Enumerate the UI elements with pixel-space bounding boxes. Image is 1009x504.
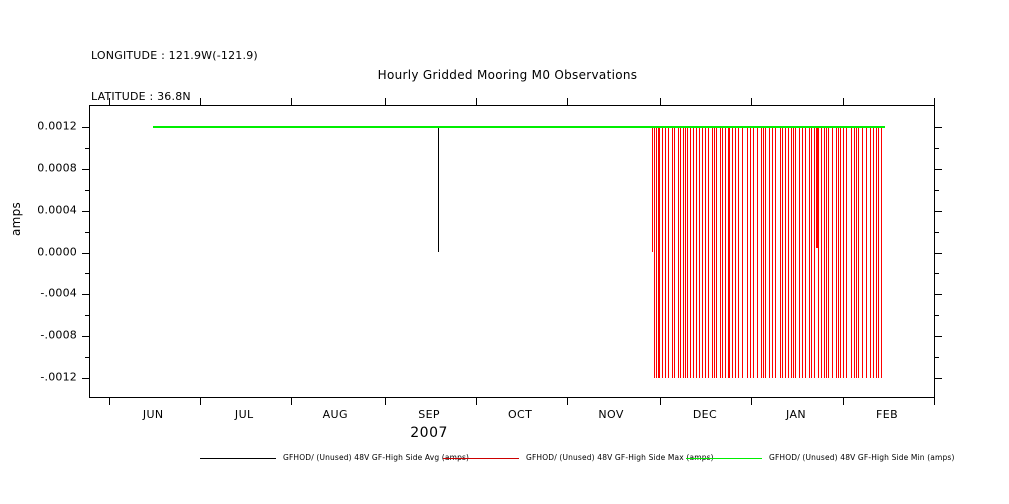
legend-color-swatch (686, 458, 762, 459)
y-tick-label: -.0004 (40, 287, 77, 300)
series-spike-max (750, 127, 751, 378)
y-minor-tick-mark (934, 148, 939, 149)
x-tick-mark (291, 98, 292, 106)
series-spike-max (843, 127, 844, 378)
x-tick-mark (200, 397, 201, 405)
y-tick-mark (934, 169, 942, 170)
series-spike-max (747, 127, 748, 378)
y-tick-label: -.0008 (40, 329, 77, 342)
series-spike-max (821, 127, 822, 378)
y-minor-tick-mark (85, 148, 90, 149)
y-tick-mark (82, 169, 90, 170)
legend-entry[interactable]: GFHOD/ (Unused) 48V GF-High Side Min (am… (686, 450, 955, 466)
series-spike-max (799, 127, 800, 378)
series-spike-max (858, 127, 859, 378)
series-spike-max (722, 127, 723, 378)
series-spike-max (702, 127, 703, 378)
series-spike-max (811, 127, 812, 378)
series-spike-max (805, 127, 806, 378)
y-minor-tick-mark (85, 357, 90, 358)
y-tick-mark (934, 294, 942, 295)
series-spike-max (818, 127, 819, 378)
x-tick-mark (476, 397, 477, 405)
chart-title: Hourly Gridded Mooring M0 Observations (3, 68, 1009, 82)
y-tick-mark (82, 378, 90, 379)
x-tick-label: DEC (693, 408, 717, 421)
series-spike-max (840, 127, 841, 378)
series-spike-max (668, 127, 669, 378)
y-tick-mark (934, 253, 942, 254)
x-axis-tick-labels: JUNJULAUGSEPOCTNOVDECJANFEB (89, 408, 935, 424)
series-spike-max (687, 127, 688, 378)
series-spike-max (862, 127, 863, 378)
y-minor-tick-mark (85, 232, 90, 233)
x-tick-label: JUN (143, 408, 164, 421)
legend-entry[interactable]: GFHOD/ (Unused) 48V GF-High Side Avg (am… (200, 450, 469, 466)
x-tick-mark (567, 397, 568, 405)
legend-color-swatch (443, 458, 519, 459)
series-spike-max (658, 127, 659, 378)
y-tick-label: 0.0012 (37, 119, 77, 132)
series-spike-max (856, 127, 857, 378)
series-spike-max (832, 127, 833, 378)
series-spike-max (728, 127, 729, 378)
y-minor-tick-mark (934, 232, 939, 233)
x-tick-mark (934, 397, 935, 405)
series-spike-max (693, 127, 694, 378)
series-spike-max (662, 127, 663, 378)
series-spike-max (769, 127, 770, 378)
series-spike-max (775, 127, 776, 378)
x-tick-label: OCT (508, 408, 532, 421)
y-minor-tick-mark (934, 190, 939, 191)
series-spike-max (696, 127, 697, 378)
series-spike-max (881, 127, 882, 378)
series-spike-avg (438, 127, 439, 253)
y-minor-tick-mark (85, 315, 90, 316)
series-spike-max-partial (738, 127, 739, 248)
series-spike-max (735, 127, 736, 378)
y-minor-tick-mark (85, 273, 90, 274)
y-minor-tick-mark (934, 315, 939, 316)
y-tick-label: 0.0008 (37, 161, 77, 174)
legend-label: GFHOD/ (Unused) 48V GF-High Side Min (am… (769, 450, 955, 466)
y-tick-mark (934, 336, 942, 337)
series-spike-max (814, 127, 815, 378)
series-line-min (153, 126, 885, 128)
series-spike-max (788, 127, 789, 378)
x-tick-label: NOV (598, 408, 623, 421)
series-spike-max (714, 127, 715, 378)
y-tick-mark (82, 211, 90, 212)
y-tick-mark (82, 127, 90, 128)
series-spike-max (680, 127, 681, 378)
series-spike-max (765, 127, 766, 378)
series-spike-max (763, 127, 764, 378)
x-tick-mark (934, 98, 935, 106)
x-tick-mark (660, 397, 661, 405)
series-spike-max-partial (654, 127, 655, 248)
y-minor-tick-mark (934, 357, 939, 358)
y-tick-mark (934, 127, 942, 128)
x-tick-mark (843, 98, 844, 106)
series-spike-max (742, 127, 743, 378)
y-tick-label: 0.0004 (37, 203, 77, 216)
x-tick-label: SEP (418, 408, 440, 421)
series-spike-max (757, 127, 758, 378)
latitude-line: LATITUDE : 36.8N (91, 90, 258, 104)
x-tick-mark (751, 98, 752, 106)
y-tick-mark (934, 211, 942, 212)
series-spike-max (793, 127, 794, 378)
series-spike-max (732, 127, 733, 378)
series-spike-max (708, 127, 709, 378)
y-tick-mark (82, 336, 90, 337)
x-tick-mark (109, 397, 110, 405)
x-tick-mark (291, 397, 292, 405)
x-tick-mark (109, 98, 110, 106)
series-spike-max (753, 127, 754, 378)
x-tick-mark (385, 397, 386, 405)
series-spike-max (699, 127, 700, 378)
plot-canvas (90, 106, 934, 397)
series-spike-max (846, 127, 847, 378)
series-spike-max (785, 127, 786, 378)
series-spike-max-partial (816, 127, 817, 248)
x-tick-mark (660, 98, 661, 106)
x-tick-mark (200, 98, 201, 106)
series-spike-max (870, 127, 871, 378)
series-spike-max (674, 127, 675, 378)
series-spike-max (795, 127, 796, 378)
series-spike-max (725, 127, 726, 378)
series-spike-max (878, 127, 879, 378)
series-spike-max (782, 127, 783, 378)
series-spike-max (705, 127, 706, 378)
legend-color-swatch (200, 458, 276, 459)
x-tick-label: JUL (235, 408, 254, 421)
y-tick-label: 0.0000 (37, 245, 77, 258)
x-tick-mark (476, 98, 477, 106)
longitude-line: LONGITUDE : 121.9W(-121.9) (91, 49, 258, 63)
chart-legend: GFHOD/ (Unused) 48V GF-High Side Avg (am… (0, 450, 1009, 470)
series-spike-max (665, 127, 666, 378)
y-tick-mark (82, 253, 90, 254)
x-tick-mark (385, 98, 386, 106)
series-spike-max (866, 127, 867, 378)
series-spike-max (685, 127, 686, 378)
series-spike-max (802, 127, 803, 378)
legend-entry[interactable]: GFHOD/ (Unused) 48V GF-High Side Max (am… (443, 450, 714, 466)
series-spike-max (838, 127, 839, 378)
y-tick-mark (82, 294, 90, 295)
series-spike-max (716, 127, 717, 378)
legend-label: GFHOD/ (Unused) 48V GF-High Side Avg (am… (283, 450, 469, 466)
x-tick-mark (843, 397, 844, 405)
series-spike-max (826, 127, 827, 378)
plot-area (89, 105, 935, 398)
y-minor-tick-mark (934, 273, 939, 274)
series-spike-max (828, 127, 829, 378)
y-tick-mark (934, 378, 942, 379)
x-tick-label: AUG (323, 408, 348, 421)
y-minor-tick-mark (85, 190, 90, 191)
x-tick-label: JAN (786, 408, 806, 421)
x-axis-year-text: 2007 (410, 425, 448, 441)
series-spike-max (873, 127, 874, 378)
x-tick-label: FEB (876, 408, 898, 421)
x-tick-mark (567, 98, 568, 106)
y-axis-tick-labels: 0.00120.00080.00040.0000-.0004-.0008-.00… (0, 105, 89, 398)
series-spike-max (690, 127, 691, 378)
y-tick-label: -.0012 (40, 371, 77, 384)
x-tick-mark (751, 397, 752, 405)
series-spike-max (772, 127, 773, 378)
series-spike-max (851, 127, 852, 378)
